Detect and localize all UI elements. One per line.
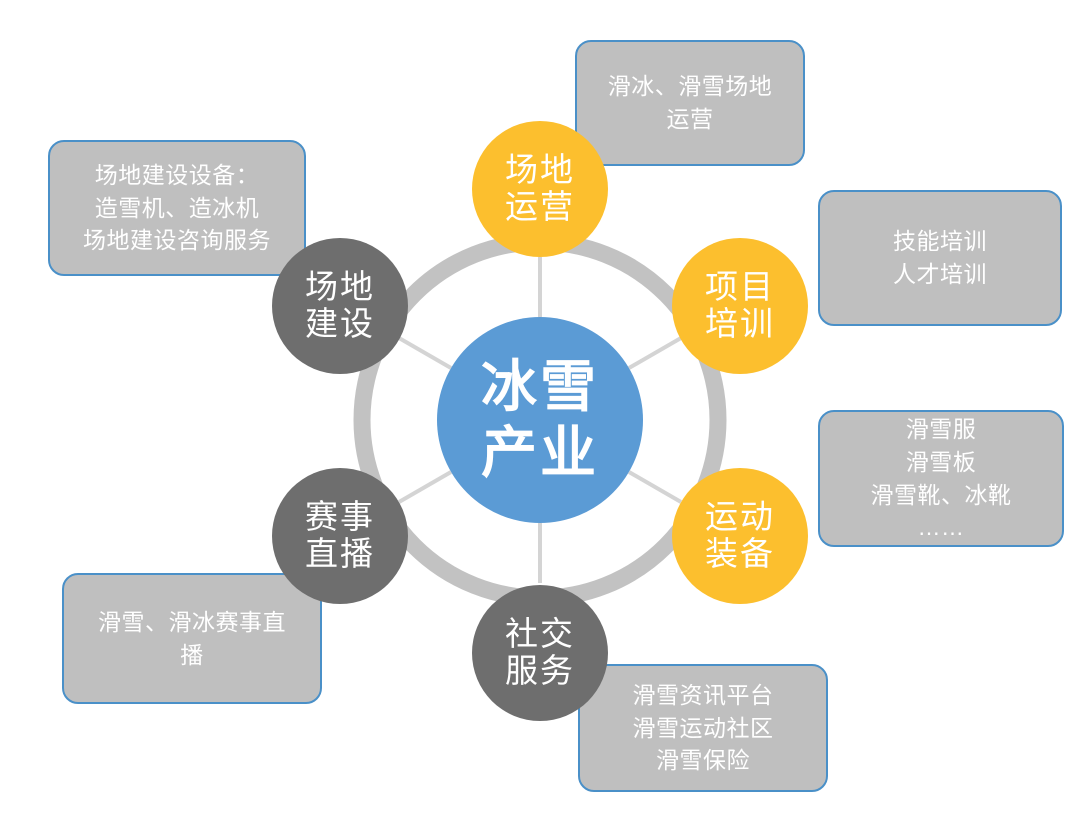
spoke-venue-construction	[399, 338, 451, 368]
node-broadcast-line1: 赛事	[305, 499, 375, 536]
node-training-line1: 项目	[705, 269, 775, 306]
node-venue-operation-line1: 场地	[505, 152, 575, 189]
node-equipment-line1: 运动	[705, 499, 775, 536]
hub-node[interactable]: 冰雪 产业	[437, 317, 643, 523]
spoke-training	[629, 338, 681, 368]
diagram-canvas: 场地建设设备： 造雪机、造冰机 场地建设咨询服务 滑冰、滑雪场地 运营 技能培训…	[0, 0, 1080, 816]
hub-line2: 产业	[481, 420, 599, 486]
node-venue-construction-line1: 场地	[305, 269, 375, 306]
spoke-broadcast	[399, 472, 451, 502]
node-venue-operation-line2: 运营	[505, 189, 575, 226]
node-broadcast[interactable]: 赛事 直播	[272, 468, 408, 604]
node-venue-construction-line2: 建设	[305, 306, 375, 343]
spoke-equipment	[629, 472, 681, 502]
hub-line1: 冰雪	[481, 354, 599, 420]
node-equipment[interactable]: 运动 装备	[672, 468, 808, 604]
node-social-line2: 服务	[505, 653, 575, 690]
node-social[interactable]: 社交 服务	[472, 585, 608, 721]
node-training-line2: 培训	[705, 306, 775, 343]
node-training[interactable]: 项目 培训	[672, 238, 808, 374]
node-social-line1: 社交	[505, 616, 575, 653]
node-venue-operation[interactable]: 场地 运营	[472, 121, 608, 257]
node-equipment-line2: 装备	[705, 536, 775, 573]
node-broadcast-line2: 直播	[305, 536, 375, 573]
node-venue-construction[interactable]: 场地 建设	[272, 238, 408, 374]
